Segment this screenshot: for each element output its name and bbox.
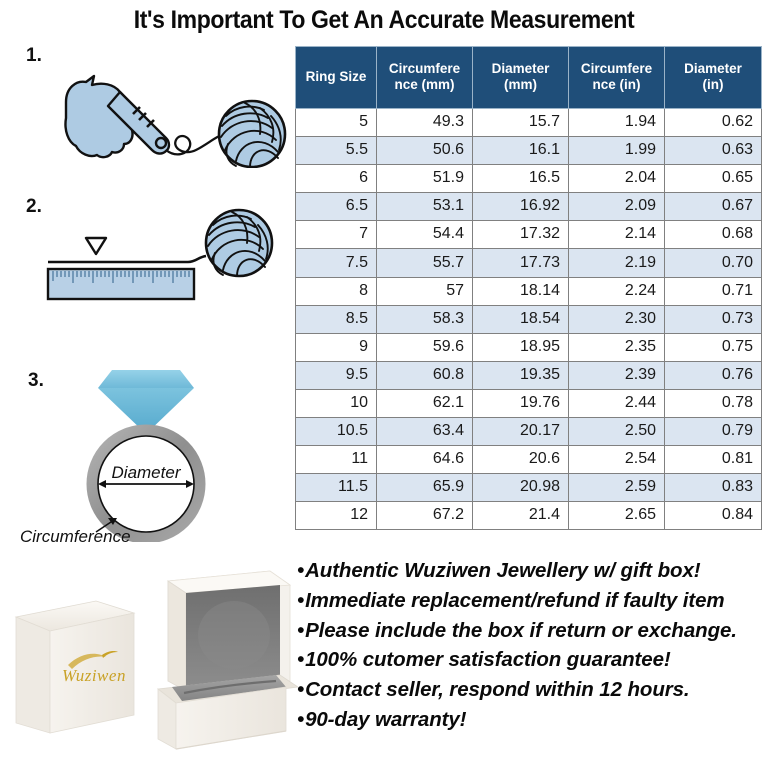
bullet-text: Immediate replacement/refund if faulty i… bbox=[305, 589, 724, 612]
table-cell: 8 bbox=[296, 277, 377, 305]
column-header-ring-size: Ring Size bbox=[296, 47, 377, 109]
bullet-marker-icon: • bbox=[297, 619, 304, 642]
table-cell: 7.5 bbox=[296, 249, 377, 277]
table-cell: 0.81 bbox=[665, 446, 762, 474]
table-cell: 11.5 bbox=[296, 474, 377, 502]
table-cell: 2.09 bbox=[569, 193, 665, 221]
table-cell: 8.5 bbox=[296, 305, 377, 333]
table-header-row: Ring Size Circumfere nce (mm) Diameter (… bbox=[296, 47, 762, 109]
table-row: 8.558.318.542.300.73 bbox=[296, 305, 762, 333]
column-header-circumference-mm: Circumfere nce (mm) bbox=[377, 47, 473, 109]
table-row: 959.618.952.350.75 bbox=[296, 333, 762, 361]
table-cell: 63.4 bbox=[377, 418, 473, 446]
table-cell: 0.76 bbox=[665, 361, 762, 389]
bullet-text: 100% cutomer satisfaction guarantee! bbox=[305, 648, 671, 671]
table-cell: 0.71 bbox=[665, 277, 762, 305]
table-cell: 9.5 bbox=[296, 361, 377, 389]
header-line-1: Diameter bbox=[492, 61, 550, 76]
table-cell: 19.76 bbox=[473, 389, 569, 417]
diameter-label: Diameter bbox=[112, 463, 182, 482]
table-cell: 10.5 bbox=[296, 418, 377, 446]
table-cell: 12 bbox=[296, 502, 377, 530]
table-row: 7.555.717.732.190.70 bbox=[296, 249, 762, 277]
table-cell: 16.92 bbox=[473, 193, 569, 221]
table-cell: 50.6 bbox=[377, 137, 473, 165]
table-cell: 0.78 bbox=[665, 389, 762, 417]
header-line-2: nce (mm) bbox=[394, 77, 454, 92]
table-row: 5.550.616.11.990.63 bbox=[296, 137, 762, 165]
table-cell: 5.5 bbox=[296, 137, 377, 165]
table-cell: 53.1 bbox=[377, 193, 473, 221]
table-cell: 0.63 bbox=[665, 137, 762, 165]
table-cell: 0.68 bbox=[665, 221, 762, 249]
table-cell: 0.73 bbox=[665, 305, 762, 333]
bullet-item: •Please include the box if return or exc… bbox=[297, 616, 767, 646]
bullet-marker-icon: • bbox=[297, 559, 304, 582]
bullet-text: Authentic Wuziwen Jewellery w/ gift box! bbox=[305, 559, 700, 582]
table-cell: 49.3 bbox=[377, 109, 473, 137]
bullet-text: Contact seller, respond within 12 hours. bbox=[305, 678, 689, 701]
table-cell: 2.30 bbox=[569, 305, 665, 333]
table-cell: 2.59 bbox=[569, 474, 665, 502]
table-cell: 60.8 bbox=[377, 361, 473, 389]
table-cell: 0.75 bbox=[665, 333, 762, 361]
table-cell: 1.99 bbox=[569, 137, 665, 165]
table-cell: 2.54 bbox=[569, 446, 665, 474]
table-cell: 0.67 bbox=[665, 193, 762, 221]
ruler-with-string-icon bbox=[20, 205, 292, 305]
table-cell: 2.19 bbox=[569, 249, 665, 277]
table-cell: 17.32 bbox=[473, 221, 569, 249]
bullet-marker-icon: • bbox=[297, 648, 304, 671]
table-cell: 6.5 bbox=[296, 193, 377, 221]
header-line-1: Circumfere bbox=[581, 61, 652, 76]
column-header-diameter-mm: Diameter (mm) bbox=[473, 47, 569, 109]
column-header-diameter-in: Diameter (in) bbox=[665, 47, 762, 109]
table-cell: 0.70 bbox=[665, 249, 762, 277]
bullet-item: •90-day warranty! bbox=[297, 705, 767, 735]
table-cell: 62.1 bbox=[377, 389, 473, 417]
table-cell: 0.62 bbox=[665, 109, 762, 137]
closed-gift-box: Wuziwen bbox=[16, 601, 134, 733]
table-cell: 16.5 bbox=[473, 165, 569, 193]
table-cell: 9 bbox=[296, 333, 377, 361]
table-cell: 65.9 bbox=[377, 474, 473, 502]
table-cell: 10 bbox=[296, 389, 377, 417]
table-cell: 64.6 bbox=[377, 446, 473, 474]
ring-size-table-container: Ring Size Circumfere nce (mm) Diameter (… bbox=[295, 46, 761, 530]
table-row: 549.315.71.940.62 bbox=[296, 109, 762, 137]
table-cell: 2.24 bbox=[569, 277, 665, 305]
table-cell: 54.4 bbox=[377, 221, 473, 249]
bullet-marker-icon: • bbox=[297, 678, 304, 701]
table-cell: 5 bbox=[296, 109, 377, 137]
table-cell: 2.50 bbox=[569, 418, 665, 446]
table-cell: 51.9 bbox=[377, 165, 473, 193]
table-row: 9.560.819.352.390.76 bbox=[296, 361, 762, 389]
table-cell: 18.54 bbox=[473, 305, 569, 333]
ring-size-guide-page: It's Important To Get An Accurate Measur… bbox=[0, 0, 768, 768]
table-cell: 2.14 bbox=[569, 221, 665, 249]
table-cell: 16.1 bbox=[473, 137, 569, 165]
table-row: 6.553.116.922.090.67 bbox=[296, 193, 762, 221]
table-cell: 57 bbox=[377, 277, 473, 305]
table-cell: 2.65 bbox=[569, 502, 665, 530]
table-cell: 7 bbox=[296, 221, 377, 249]
brand-logo-text: Wuziwen bbox=[62, 666, 126, 685]
header-line-1: Ring Size bbox=[306, 69, 367, 84]
table-cell: 6 bbox=[296, 165, 377, 193]
table-cell: 17.73 bbox=[473, 249, 569, 277]
bullet-item: •Authentic Wuziwen Jewellery w/ gift box… bbox=[297, 556, 767, 586]
table-cell: 0.79 bbox=[665, 418, 762, 446]
table-cell: 15.7 bbox=[473, 109, 569, 137]
table-cell: 11 bbox=[296, 446, 377, 474]
table-cell: 20.6 bbox=[473, 446, 569, 474]
table-cell: 55.7 bbox=[377, 249, 473, 277]
table-cell: 0.65 bbox=[665, 165, 762, 193]
open-gift-box bbox=[158, 571, 298, 749]
table-cell: 18.95 bbox=[473, 333, 569, 361]
table-row: 754.417.322.140.68 bbox=[296, 221, 762, 249]
table-row: 11.565.920.982.590.83 bbox=[296, 474, 762, 502]
table-cell: 2.04 bbox=[569, 165, 665, 193]
features-bullet-list: •Authentic Wuziwen Jewellery w/ gift box… bbox=[297, 556, 767, 735]
table-cell: 0.84 bbox=[665, 502, 762, 530]
table-cell: 19.35 bbox=[473, 361, 569, 389]
bullet-text: Please include the box if return or exch… bbox=[305, 619, 737, 642]
bullet-item: •Contact seller, respond within 12 hours… bbox=[297, 675, 767, 705]
table-cell: 21.4 bbox=[473, 502, 569, 530]
header-line-2: (in) bbox=[703, 77, 724, 92]
table-cell: 2.35 bbox=[569, 333, 665, 361]
table-cell: 20.98 bbox=[473, 474, 569, 502]
table-row: 85718.142.240.71 bbox=[296, 277, 762, 305]
table-row: 1062.119.762.440.78 bbox=[296, 389, 762, 417]
gift-box-illustration: Wuziwen bbox=[8, 563, 298, 763]
bullet-item: •Immediate replacement/refund if faulty … bbox=[297, 586, 767, 616]
header-line-1: Circumfere bbox=[389, 61, 460, 76]
ring-diagram-icon: Diameter Circumference bbox=[18, 362, 290, 542]
table-row: 1164.620.62.540.81 bbox=[296, 446, 762, 474]
table-cell: 0.83 bbox=[665, 474, 762, 502]
hand-with-string-icon bbox=[20, 58, 292, 168]
table-cell: 1.94 bbox=[569, 109, 665, 137]
column-header-circumference-in: Circumfere nce (in) bbox=[569, 47, 665, 109]
table-row: 10.563.420.172.500.79 bbox=[296, 418, 762, 446]
table-cell: 67.2 bbox=[377, 502, 473, 530]
table-cell: 20.17 bbox=[473, 418, 569, 446]
table-body: 549.315.71.940.625.550.616.11.990.63651.… bbox=[296, 109, 762, 530]
ring-size-table: Ring Size Circumfere nce (mm) Diameter (… bbox=[295, 46, 762, 530]
circumference-label: Circumference bbox=[20, 527, 131, 542]
table-cell: 59.6 bbox=[377, 333, 473, 361]
table-cell: 18.14 bbox=[473, 277, 569, 305]
header-line-1: Diameter bbox=[684, 61, 742, 76]
bullet-item: •100% cutomer satisfaction guarantee! bbox=[297, 645, 767, 675]
header-line-2: nce (in) bbox=[592, 77, 640, 92]
bullet-marker-icon: • bbox=[297, 708, 304, 731]
header-line-2: (mm) bbox=[504, 77, 537, 92]
table-cell: 2.39 bbox=[569, 361, 665, 389]
page-title: It's Important To Get An Accurate Measur… bbox=[31, 6, 738, 35]
table-cell: 58.3 bbox=[377, 305, 473, 333]
table-cell: 2.44 bbox=[569, 389, 665, 417]
table-row: 651.916.52.040.65 bbox=[296, 165, 762, 193]
bullet-marker-icon: • bbox=[297, 589, 304, 612]
table-row: 1267.221.42.650.84 bbox=[296, 502, 762, 530]
bullet-text: 90-day warranty! bbox=[305, 708, 466, 731]
